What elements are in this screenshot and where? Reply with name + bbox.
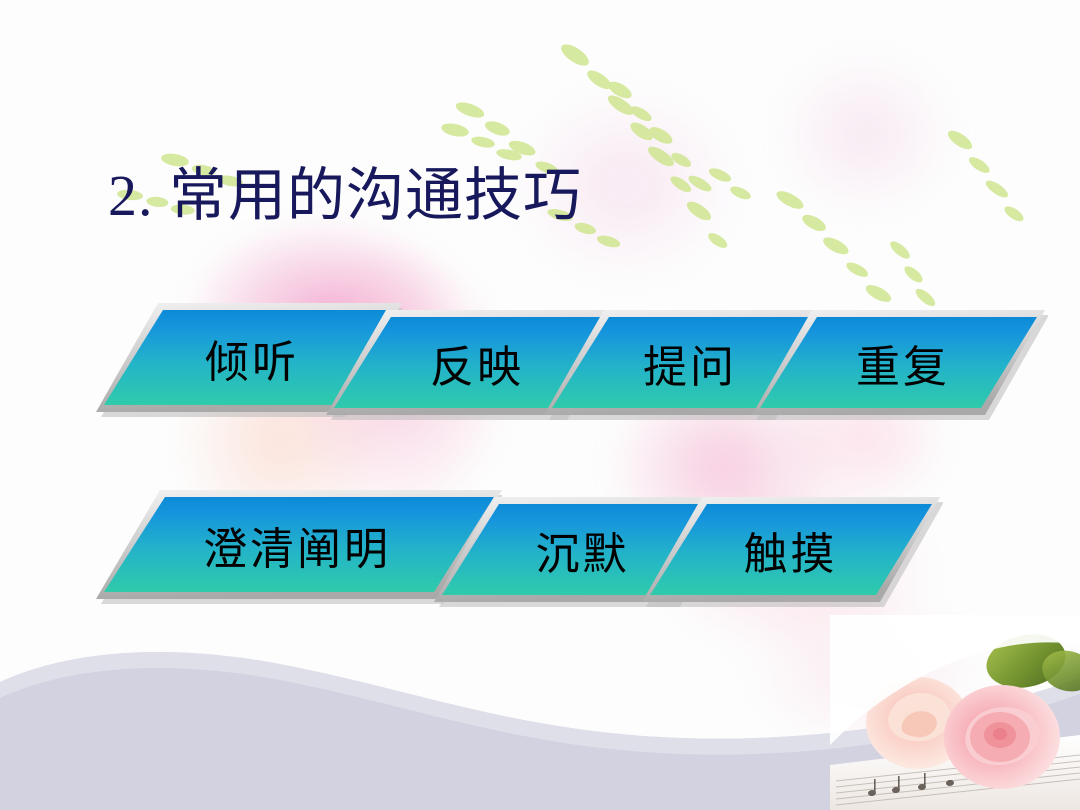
slide-canvas: 2. 常用的沟通技巧 [0, 0, 1080, 810]
lavender-wave-band [0, 620, 1080, 810]
chevron-graphic [638, 492, 943, 608]
chevron-shape-touch[interactable]: 触摸 [638, 492, 943, 608]
pink-roses-photo [830, 615, 1080, 810]
chevron-graphic [748, 305, 1048, 421]
page-title: 2. 常用的沟通技巧 [108, 166, 582, 227]
chevron-shape-repeat[interactable]: 重复 [748, 305, 1048, 421]
